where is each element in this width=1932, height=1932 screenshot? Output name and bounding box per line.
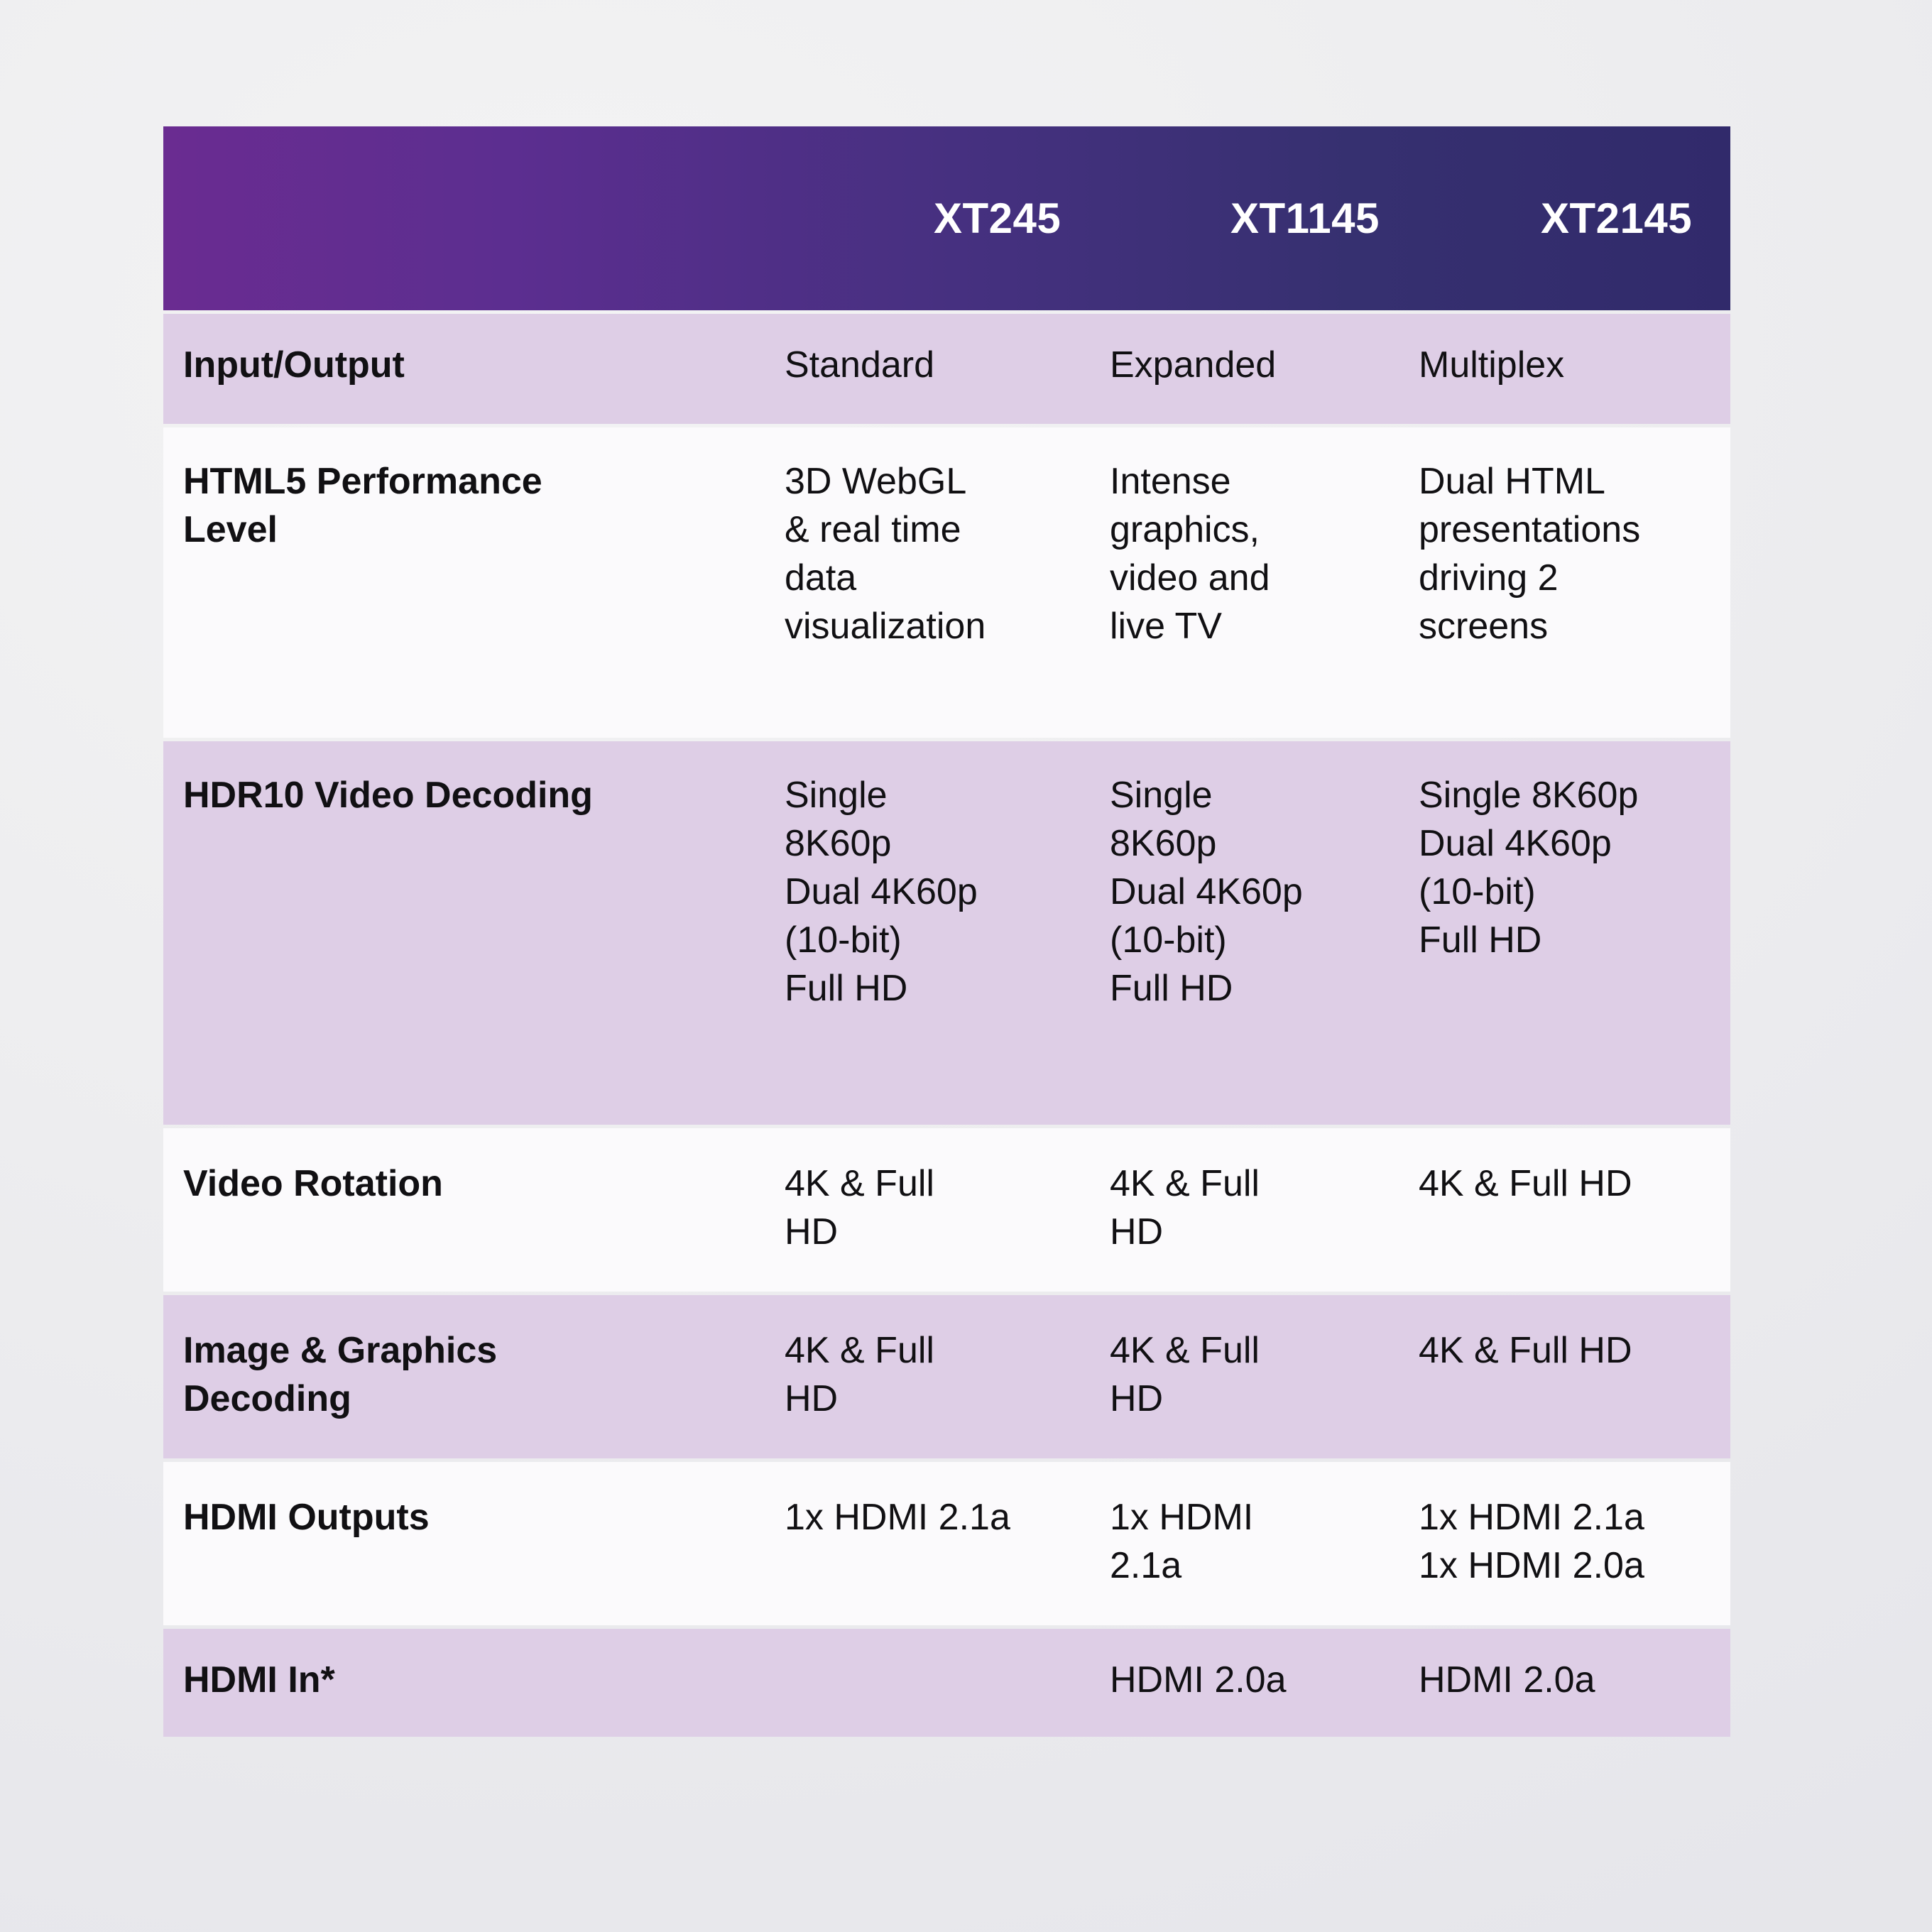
row-value-xt2145: HDMI 2.0a [1419,1656,1730,1704]
row-feature-label: Image & Graphics Decoding [163,1326,785,1423]
row-feature-label: HDMI Outputs [163,1493,785,1541]
table-header-row: XT245 XT1145 XT2145 [163,126,1730,310]
table-row: HTML5 Performance Level 3D WebGL & real … [163,427,1730,738]
table-row: HDR10 Video Decoding Single 8K60p Dual 4… [163,741,1730,1125]
column-header-xt245: XT245 [785,197,1110,240]
row-value-xt245: 3D WebGL & real time data visualization [785,457,1110,650]
row-value-xt1145: 4K & Full HD [1110,1326,1419,1423]
column-header-xt2145: XT2145 [1419,197,1730,240]
table-row: Image & Graphics Decoding 4K & Full HD 4… [163,1295,1730,1458]
row-value-xt2145: Multiplex [1419,341,1730,389]
row-feature-label: HDMI In* [163,1656,785,1704]
row-value-xt2145: Single 8K60p Dual 4K60p (10-bit) Full HD [1419,771,1730,964]
product-comparison-table: XT245 XT1145 XT2145 Input/Output Standar… [163,126,1730,1737]
row-value-xt245: 4K & Full HD [785,1159,1110,1256]
row-feature-label: Input/Output [163,341,785,389]
row-value-xt1145: HDMI 2.0a [1110,1656,1419,1704]
row-feature-label: HTML5 Performance Level [163,457,785,554]
row-value-xt245: 4K & Full HD [785,1326,1110,1423]
row-value-xt245: Single 8K60p Dual 4K60p (10-bit) Full HD [785,771,1110,1013]
row-value-xt1145: Single 8K60p Dual 4K60p (10-bit) Full HD [1110,771,1419,1013]
row-feature-label: Video Rotation [163,1159,785,1208]
row-value-xt1145: 4K & Full HD [1110,1159,1419,1256]
table-row: HDMI Outputs 1x HDMI 2.1a 1x HDMI 2.1a 1… [163,1462,1730,1625]
column-header-xt1145: XT1145 [1110,197,1419,240]
table-row: Video Rotation 4K & Full HD 4K & Full HD… [163,1128,1730,1292]
row-value-xt1145: Expanded [1110,341,1419,389]
row-value-xt1145: Intense graphics, video and live TV [1110,457,1419,650]
row-value-xt2145: Dual HTML presentations driving 2 screen… [1419,457,1730,650]
row-value-xt2145: 4K & Full HD [1419,1326,1730,1375]
row-value-xt2145: 1x HDMI 2.1a 1x HDMI 2.0a [1419,1493,1730,1590]
row-value-xt2145: 4K & Full HD [1419,1159,1730,1208]
table-row: HDMI In* HDMI 2.0a HDMI 2.0a [163,1629,1730,1737]
row-value-xt1145: 1x HDMI 2.1a [1110,1493,1419,1590]
row-value-xt245: 1x HDMI 2.1a [785,1493,1110,1541]
row-feature-label: HDR10 Video Decoding [163,771,785,819]
row-value-xt245: Standard [785,341,1110,389]
table-row: Input/Output Standard Expanded Multiplex [163,314,1730,424]
